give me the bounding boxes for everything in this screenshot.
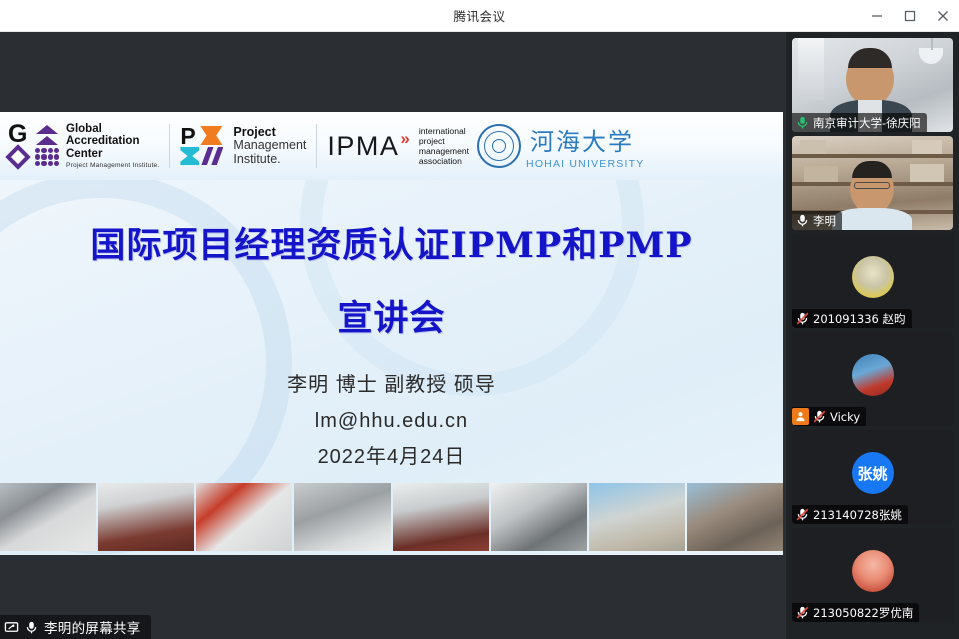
participant-name-bar: 213140728张姚 [792,505,908,524]
gac-line1: Global [66,123,159,136]
participant-name: 201091336 赵昀 [813,311,906,327]
minimize-icon[interactable] [860,0,893,32]
slide-email: lm@hhu.edu.cn [0,403,783,439]
ipma-chevron-icon: » [400,129,409,149]
screen-share-owner: 李明的屏幕共享 [44,617,141,637]
campus-photo [294,483,390,551]
title-bar: 腾讯会议 [0,0,959,32]
hohai-logo: 河海大学 HOHAI UNIVERSITY [477,112,644,180]
pmi-line2: Management [233,139,306,153]
hohai-seal-icon [477,124,521,168]
ipma-wordmark: IPMA [327,131,399,162]
hohai-name-cn: 河海大学 [530,122,644,157]
mic-muted-icon [795,311,810,326]
pmi-line3: Institute. [233,153,306,167]
participant-name: 213050822罗优南 [813,605,913,621]
pmi-mark-icon: P [180,126,226,166]
avatar [852,354,894,396]
participant-tile[interactable]: 李明 [792,136,953,230]
campus-photo [393,483,489,551]
campus-photo [0,483,96,551]
mic-muted-icon [795,507,810,522]
maximize-icon[interactable] [893,0,926,32]
mic-muted-icon [812,409,827,424]
tencent-meeting-window: 腾讯会议 G [0,0,959,639]
gac-logo: G Global [0,112,159,180]
gac-mark-icon: G [8,124,60,168]
window-title: 腾讯会议 [453,6,505,25]
participant-name-bar: 南京审计大学-徐庆阳 [792,113,927,132]
slide-title-line1: 国际项目经理资质认证IPMP和PMP [0,217,783,268]
campus-photo [687,483,783,551]
host-person-icon [792,408,809,425]
window-controls [860,0,959,32]
participant-name: 213140728张姚 [813,507,902,523]
participant-name: 李明 [813,213,836,229]
participant-name-bar: 213050822罗优南 [792,603,919,622]
gac-tagline: Project Management Institute. [66,162,159,169]
mic-on-icon [795,213,810,228]
pmi-line1: Project [233,126,306,140]
logo-divider [169,124,170,168]
screen-share-label: 李明的屏幕共享 [0,615,151,639]
campus-photo [196,483,292,551]
participant-name-bar: 201091336 赵昀 [792,309,912,328]
slide-date: 2022年4月24日 [0,439,783,475]
ipma-sub1: international [419,126,469,136]
avatar [852,550,894,592]
campus-photo [491,483,587,551]
shared-slide: G Global [0,112,783,555]
close-icon[interactable] [926,0,959,32]
participant-tile[interactable]: 张姚 213140728张姚 [792,430,953,524]
ipma-logo: IPMA » international project management … [327,112,469,180]
ipma-sub4: association [419,156,469,166]
slide-title-line2: 宣讲会 [0,290,783,341]
slide-presenter: 李明 博士 副教授 硕导 [0,367,783,403]
participant-tile[interactable]: 213050822罗优南 [792,528,953,622]
slide-logo-band: G Global [0,112,783,180]
participant-tile[interactable]: 南京审计大学-徐庆阳 [792,38,953,132]
screen-share-icon [4,620,19,635]
participant-name-bar: Vicky [792,407,866,426]
mic-icon [24,620,39,635]
avatar [852,256,894,298]
pmi-logo: P Project Management Institute. [180,112,306,180]
shared-screen-stage[interactable]: G Global [0,32,786,639]
ipma-sub2: project [419,136,469,146]
mic-on-icon [795,115,810,130]
avatar: 张姚 [852,452,894,494]
participant-tile[interactable]: 201091336 赵昀 [792,234,953,328]
hohai-name-en: HOHAI UNIVERSITY [526,158,644,170]
campus-photo [589,483,685,551]
meeting-body: G Global [0,32,959,639]
logo-divider [316,124,317,168]
participant-tile[interactable]: Vicky [792,332,953,426]
participant-name-bar: 李明 [792,211,842,230]
campus-photo [98,483,194,551]
mic-muted-icon [795,605,810,620]
slide-photo-strip [0,483,783,551]
participant-name: Vicky [830,410,860,424]
participant-sidebar[interactable]: 南京审计大学-徐庆阳 [786,32,959,639]
participant-name: 南京审计大学-徐庆阳 [813,115,921,131]
gac-line3: Center [66,148,159,161]
gac-line2: Accreditation [66,135,159,148]
slide-subtitle: 李明 博士 副教授 硕导 lm@hhu.edu.cn 2022年4月24日 [0,367,783,475]
ipma-sub3: management [419,146,469,156]
